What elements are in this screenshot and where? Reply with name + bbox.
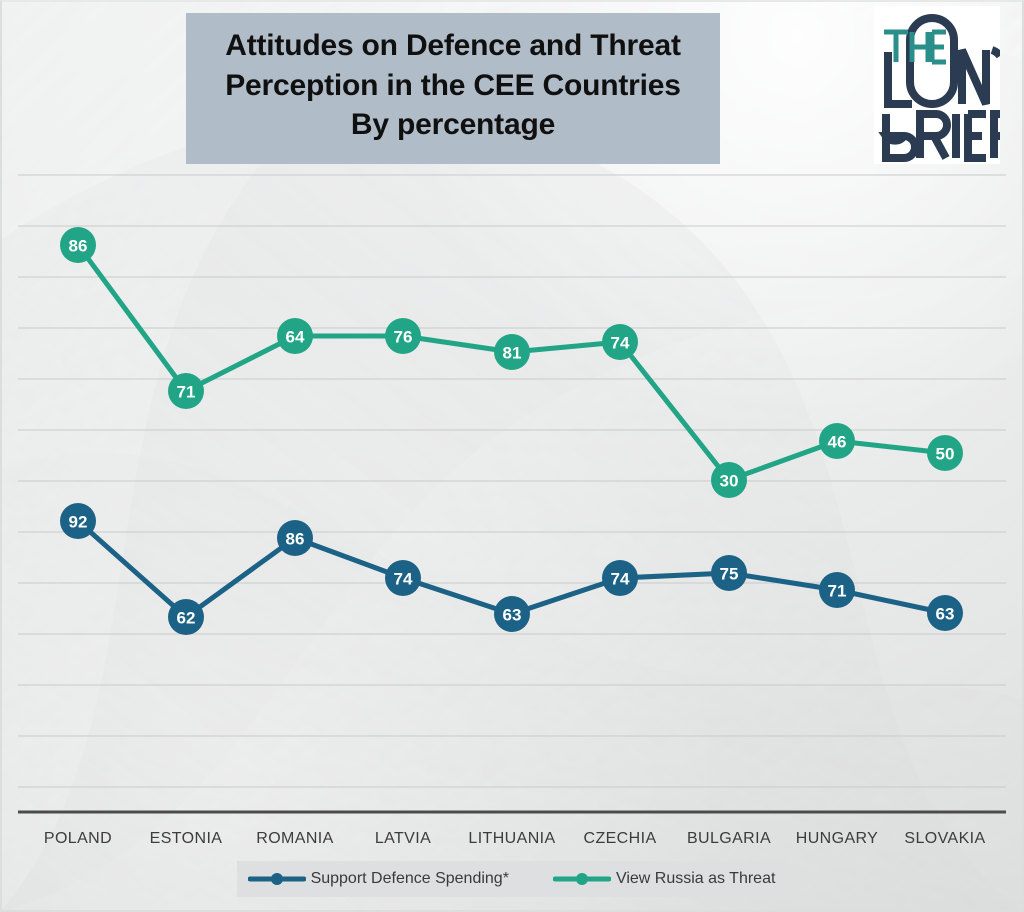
x-axis-label-latvia: LATVIA xyxy=(375,830,431,847)
data-point-value: 75 xyxy=(720,565,739,584)
legend-item-view-russia-as-threat[interactable]: View Russia as Threat xyxy=(553,870,775,888)
data-point-value: 63 xyxy=(503,606,522,625)
line-chart: 926286746374757163867164768174304650 POL… xyxy=(0,0,1024,912)
data-point-value: 30 xyxy=(720,472,739,491)
x-axis-label-estonia: ESTONIA xyxy=(150,830,223,847)
legend-label-0: Support Defence Spending* xyxy=(311,870,509,888)
x-axis-label-hungary: HUNGARY xyxy=(796,830,879,847)
data-point-value: 71 xyxy=(828,582,847,601)
data-point-value: 86 xyxy=(69,237,88,256)
data-point-1-6[interactable]: 30 xyxy=(711,462,747,498)
x-axis-label-romania: ROMANIA xyxy=(256,830,333,847)
data-point-value: 50 xyxy=(936,445,955,464)
legend-label-1: View Russia as Threat xyxy=(616,870,775,888)
data-point-1-1[interactable]: 71 xyxy=(168,373,204,409)
data-point-value: 74 xyxy=(611,570,630,589)
data-point-0-5[interactable]: 74 xyxy=(602,560,638,596)
chart-legend: Support Defence Spending* View Russia as… xyxy=(237,861,786,897)
x-axis-label-poland: POLAND xyxy=(44,830,112,847)
chart-screenshot: Attitudes on Defence and Threat Percepti… xyxy=(0,0,1024,912)
data-point-0-3[interactable]: 74 xyxy=(385,560,421,596)
data-point-value: 62 xyxy=(177,609,196,628)
x-axis-category-labels: POLANDESTONIAROMANIALATVIALITHUANIACZECH… xyxy=(44,830,986,847)
x-axis-label-lithuania: LITHUANIA xyxy=(468,830,555,847)
data-point-1-5[interactable]: 74 xyxy=(602,324,638,360)
data-point-0-2[interactable]: 86 xyxy=(277,520,313,556)
x-axis-label-bulgaria: BULGARIA xyxy=(687,830,771,847)
data-point-value: 64 xyxy=(286,328,305,347)
chart-series-markers: 926286746374757163867164768174304650 xyxy=(60,227,963,635)
data-point-value: 71 xyxy=(177,383,196,402)
data-point-1-8[interactable]: 50 xyxy=(927,435,963,471)
data-point-1-4[interactable]: 81 xyxy=(494,334,530,370)
data-point-0-1[interactable]: 62 xyxy=(168,599,204,635)
x-axis-label-slovakia: SLOVAKIA xyxy=(904,830,985,847)
chart-gridlines xyxy=(18,175,1006,787)
chart-series-lines xyxy=(78,245,945,617)
data-point-1-2[interactable]: 64 xyxy=(277,318,313,354)
data-point-value: 46 xyxy=(828,433,847,452)
data-point-value: 74 xyxy=(394,570,413,589)
data-point-value: 92 xyxy=(69,513,88,532)
data-point-value: 76 xyxy=(394,328,413,347)
data-point-0-0[interactable]: 92 xyxy=(60,503,96,539)
data-point-value: 74 xyxy=(611,334,630,353)
data-point-0-7[interactable]: 71 xyxy=(819,572,855,608)
data-point-1-7[interactable]: 46 xyxy=(819,423,855,459)
data-point-1-3[interactable]: 76 xyxy=(385,318,421,354)
data-point-value: 86 xyxy=(286,530,305,549)
data-point-0-4[interactable]: 63 xyxy=(494,596,530,632)
data-point-0-8[interactable]: 63 xyxy=(927,595,963,631)
legend-swatch-blue-line-icon xyxy=(248,871,306,887)
legend-item-support-defence-spending[interactable]: Support Defence Spending* xyxy=(248,870,509,888)
data-point-0-6[interactable]: 75 xyxy=(711,555,747,591)
data-point-1-0[interactable]: 86 xyxy=(60,227,96,263)
legend-swatch-green-line-icon xyxy=(553,871,611,887)
x-axis-label-czechia: CZECHIA xyxy=(583,830,656,847)
data-point-value: 81 xyxy=(503,344,522,363)
data-point-value: 63 xyxy=(936,605,955,624)
